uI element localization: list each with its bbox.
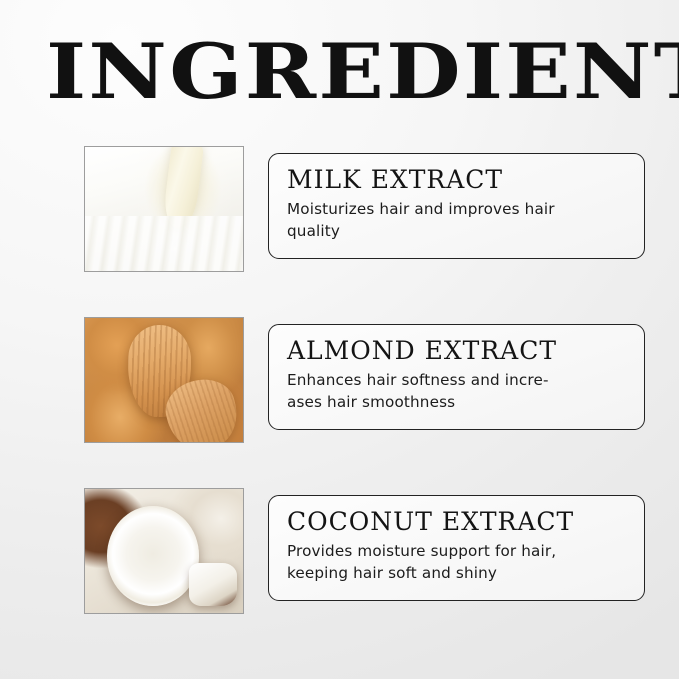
- coconut-extract-title: COCONUT EXTRACT: [287, 507, 628, 537]
- milk-pour-photo: [85, 147, 243, 271]
- milk-extract-title: MILK EXTRACT: [287, 165, 628, 195]
- coconut-extract-description: Provides moisture support for hair, keep…: [287, 540, 628, 584]
- almond-photo-frame: [84, 317, 244, 443]
- almond-extract-description: Enhances hair softness and incre- ases h…: [287, 369, 628, 413]
- coconut-photo: [85, 489, 243, 613]
- ingredients-infographic: INGREDIENTS MILK EXTRACT Moisturizes hai…: [0, 0, 679, 679]
- almond-extract-card: ALMOND EXTRACT Enhances hair softness an…: [268, 324, 645, 430]
- almond-extract-title: ALMOND EXTRACT: [287, 336, 628, 366]
- milk-extract-description: Moisturizes hair and improves hair quali…: [287, 198, 628, 242]
- page-title: INGREDIENTS: [46, 33, 679, 111]
- milk-extract-card: MILK EXTRACT Moisturizes hair and improv…: [268, 153, 645, 259]
- milk-photo-frame: [84, 146, 244, 272]
- coconut-photo-frame: [84, 488, 244, 614]
- almonds-photo: [85, 318, 243, 442]
- coconut-extract-card: COCONUT EXTRACT Provides moisture suppor…: [268, 495, 645, 601]
